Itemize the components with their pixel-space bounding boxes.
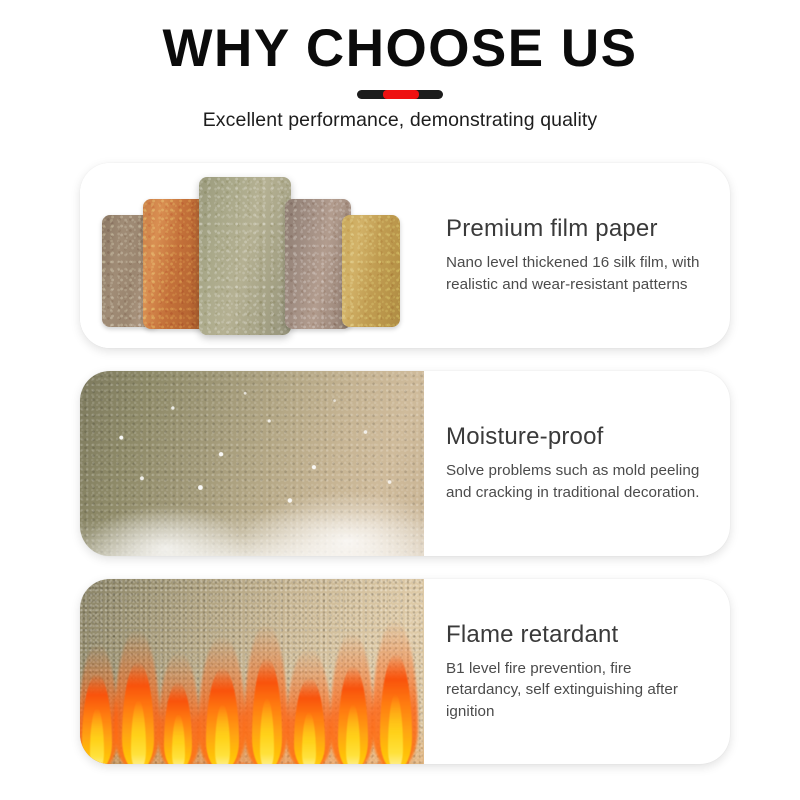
feature-card-list: Premium film paper Nano level thickened … xyxy=(80,163,730,764)
metallic-swatch-5 xyxy=(342,215,400,327)
card-media-metallic-swatch-fan xyxy=(80,163,424,348)
metallic-swatch-fan xyxy=(80,163,424,348)
metallic-swatch-3 xyxy=(199,177,291,335)
page-title: WHY CHOOSE US xyxy=(0,0,800,77)
card-media-water-splash xyxy=(80,371,424,556)
feature-card-premium-film-paper[interactable]: Premium film paper Nano level thickened … xyxy=(80,163,730,348)
card-title: Flame retardant xyxy=(446,621,708,649)
flame-shapes xyxy=(80,620,424,764)
feature-card-flame-retardant[interactable]: Flame retardant B1 level fire prevention… xyxy=(80,579,730,764)
flame-image xyxy=(80,579,424,764)
card-body-flame-retardant: Flame retardant B1 level fire prevention… xyxy=(424,579,730,764)
card-media-flames xyxy=(80,579,424,764)
card-body-moisture-proof: Moisture-proof Solve problems such as mo… xyxy=(424,371,730,556)
card-body-premium-film-paper: Premium film paper Nano level thickened … xyxy=(424,163,730,348)
water-droplets-overlay xyxy=(80,371,424,556)
card-description: Solve problems such as mold peeling and … xyxy=(446,460,708,503)
page-subtitle: Excellent performance, demonstrating qua… xyxy=(0,109,800,132)
card-title: Moisture-proof xyxy=(446,423,708,451)
page-header: WHY CHOOSE US Excellent performance, dem… xyxy=(0,0,800,77)
water-splash-image xyxy=(80,371,424,556)
card-description: Nano level thickened 16 silk film, with … xyxy=(446,252,708,295)
feature-card-moisture-proof[interactable]: Moisture-proof Solve problems such as mo… xyxy=(80,371,730,556)
card-title: Premium film paper xyxy=(446,215,708,243)
title-accent-bar xyxy=(357,90,443,99)
title-accent-bar-highlight xyxy=(383,90,419,99)
card-description: B1 level fire prevention, fire retardanc… xyxy=(446,658,708,723)
